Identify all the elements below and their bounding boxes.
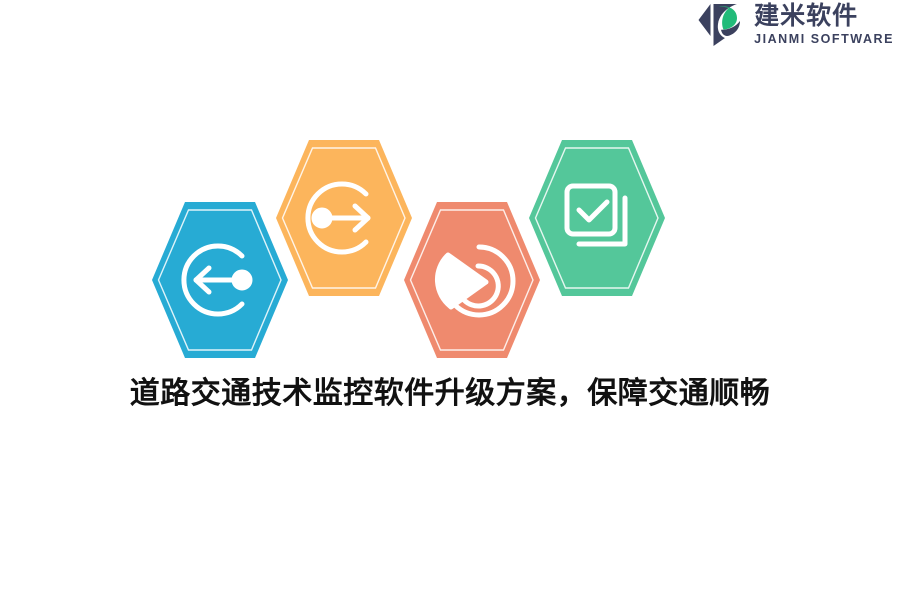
- page-title: 道路交通技术监控软件升级方案，保障交通顺畅: [0, 368, 900, 412]
- brand-name-en: JIANMI SOFTWARE: [754, 33, 894, 46]
- jianmi-logo-mark-icon: [696, 2, 746, 46]
- brand-text: 建米软件 JIANMI SOFTWARE: [754, 3, 894, 46]
- hexagon-icon-cluster: [150, 120, 670, 340]
- brand-logo: 建米软件 JIANMI SOFTWARE: [696, 2, 894, 46]
- hexagon-green-shape: [529, 140, 665, 296]
- brand-name-cn: 建米软件: [754, 3, 894, 28]
- slide-canvas: 建米软件 JIANMI SOFTWARE: [0, 0, 900, 600]
